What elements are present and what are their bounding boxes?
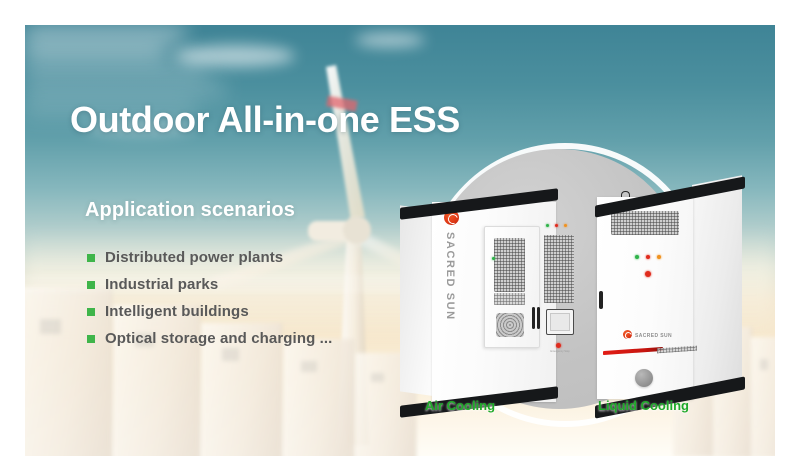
- page-title: Outdoor All-in-one ESS: [70, 99, 460, 141]
- section-heading: Application scenarios: [85, 199, 295, 222]
- bullet-square-icon: [87, 281, 95, 289]
- door-handle[interactable]: [532, 307, 535, 329]
- door-handle[interactable]: [537, 307, 540, 329]
- slide-canvas: SACRED SUN: [0, 0, 800, 469]
- status-led-run: [635, 255, 639, 259]
- list-item-label: Distributed power plants: [105, 249, 283, 266]
- list-item: Industrial parks: [87, 271, 332, 298]
- cloud: [25, 79, 225, 99]
- list-item: Optical storage and charging ...: [87, 325, 332, 352]
- status-led-fault: [646, 255, 650, 259]
- door-handle[interactable]: [599, 291, 603, 309]
- indicator-cluster: [635, 255, 665, 261]
- emergency-stop-label: Emergency Stop: [544, 350, 576, 353]
- lifting-lug-icon: [621, 191, 630, 197]
- fan-icon: [496, 313, 524, 337]
- application-scenarios-list: Distributed power plants Industrial park…: [87, 244, 332, 352]
- brand-name-horizontal: SACRED SUN: [635, 333, 672, 339]
- sacred-sun-logo-icon: [623, 330, 632, 339]
- cloud: [355, 33, 425, 47]
- vent-grille-icon: [494, 238, 525, 292]
- brand-name-vertical: SACRED SUN: [444, 232, 456, 321]
- cloud: [25, 43, 165, 59]
- cabinet-side-panel: [400, 205, 433, 396]
- list-item-label: Optical storage and charging ...: [105, 330, 332, 347]
- caption-air-cooling: Air Cooling: [425, 398, 495, 413]
- vent-grille-icon: [544, 235, 574, 303]
- status-led-run: [492, 257, 495, 260]
- list-item: Intelligent buildings: [87, 298, 332, 325]
- list-item-label: Industrial parks: [105, 276, 218, 293]
- emergency-stop-button[interactable]: [556, 343, 561, 348]
- vent-grille-icon: [611, 211, 679, 235]
- emergency-stop-button[interactable]: [645, 271, 651, 277]
- status-led-alarm: [564, 224, 567, 227]
- list-item: Distributed power plants: [87, 244, 332, 271]
- list-item-label: Intelligent buildings: [105, 303, 249, 320]
- status-led-alarm: [657, 255, 661, 259]
- cloud: [25, 59, 205, 79]
- product-liquid-cooling[interactable]: SACRED SUN: [593, 185, 745, 413]
- status-led-run: [546, 224, 549, 227]
- bullet-square-icon: [87, 308, 95, 316]
- status-led-fault: [555, 224, 558, 227]
- caption-liquid-cooling: Liquid Cooling: [598, 398, 689, 413]
- air-conditioner-unit: [484, 226, 540, 348]
- product-air-cooling[interactable]: SACRED SUN: [400, 194, 556, 413]
- access-port[interactable]: [635, 369, 653, 387]
- hero-image: SACRED SUN: [25, 25, 775, 456]
- bullet-square-icon: [87, 335, 95, 343]
- accent-stripe: [603, 347, 663, 355]
- bullet-square-icon: [87, 254, 95, 262]
- vent-grille-icon: [657, 346, 697, 354]
- hmi-display: [546, 309, 574, 335]
- cabinet-front-panel: SACRED SUN: [597, 197, 693, 399]
- indicator-cluster: [546, 224, 572, 229]
- vent-grille-icon: [494, 293, 525, 305]
- cabinet-front-panel: SACRED SUN: [432, 202, 556, 402]
- cloud: [25, 25, 185, 43]
- cabinet-side-panel: [692, 175, 742, 399]
